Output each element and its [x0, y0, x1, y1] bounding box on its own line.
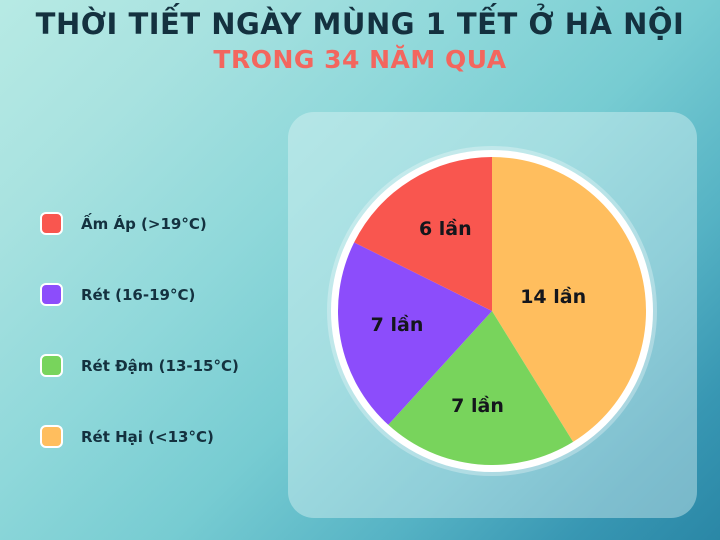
legend-item[interactable]: Rét (16-19°C) — [40, 259, 280, 330]
pie-chart: 14 lần7 lần7 lần6 lần — [331, 150, 653, 472]
legend-item-label: Ấm Áp (>19°C) — [81, 215, 207, 233]
legend-item[interactable]: Rét Đậm (13-15°C) — [40, 330, 280, 401]
legend-item[interactable]: Rét Hại (<13°C) — [40, 401, 280, 472]
pie-slices — [338, 157, 646, 465]
page-title: THỜI TIẾT NGÀY MÙNG 1 TẾT Ở HÀ NỘI — [0, 8, 720, 40]
page-subtitle: TRONG 34 NĂM QUA — [0, 46, 720, 74]
title-block: THỜI TIẾT NGÀY MÙNG 1 TẾT Ở HÀ NỘI TRONG… — [0, 8, 720, 74]
legend-color-swatch — [40, 425, 63, 448]
legend-item-label: Rét (16-19°C) — [81, 286, 195, 304]
legend-item-label: Rét Hại (<13°C) — [81, 428, 214, 446]
legend-item-label: Rét Đậm (13-15°C) — [81, 357, 239, 375]
legend-color-swatch — [40, 354, 63, 377]
legend-color-swatch — [40, 283, 63, 306]
legend: Ấm Áp (>19°C)Rét (16-19°C)Rét Đậm (13-15… — [40, 188, 280, 472]
legend-color-swatch — [40, 212, 63, 235]
legend-item[interactable]: Ấm Áp (>19°C) — [40, 188, 280, 259]
